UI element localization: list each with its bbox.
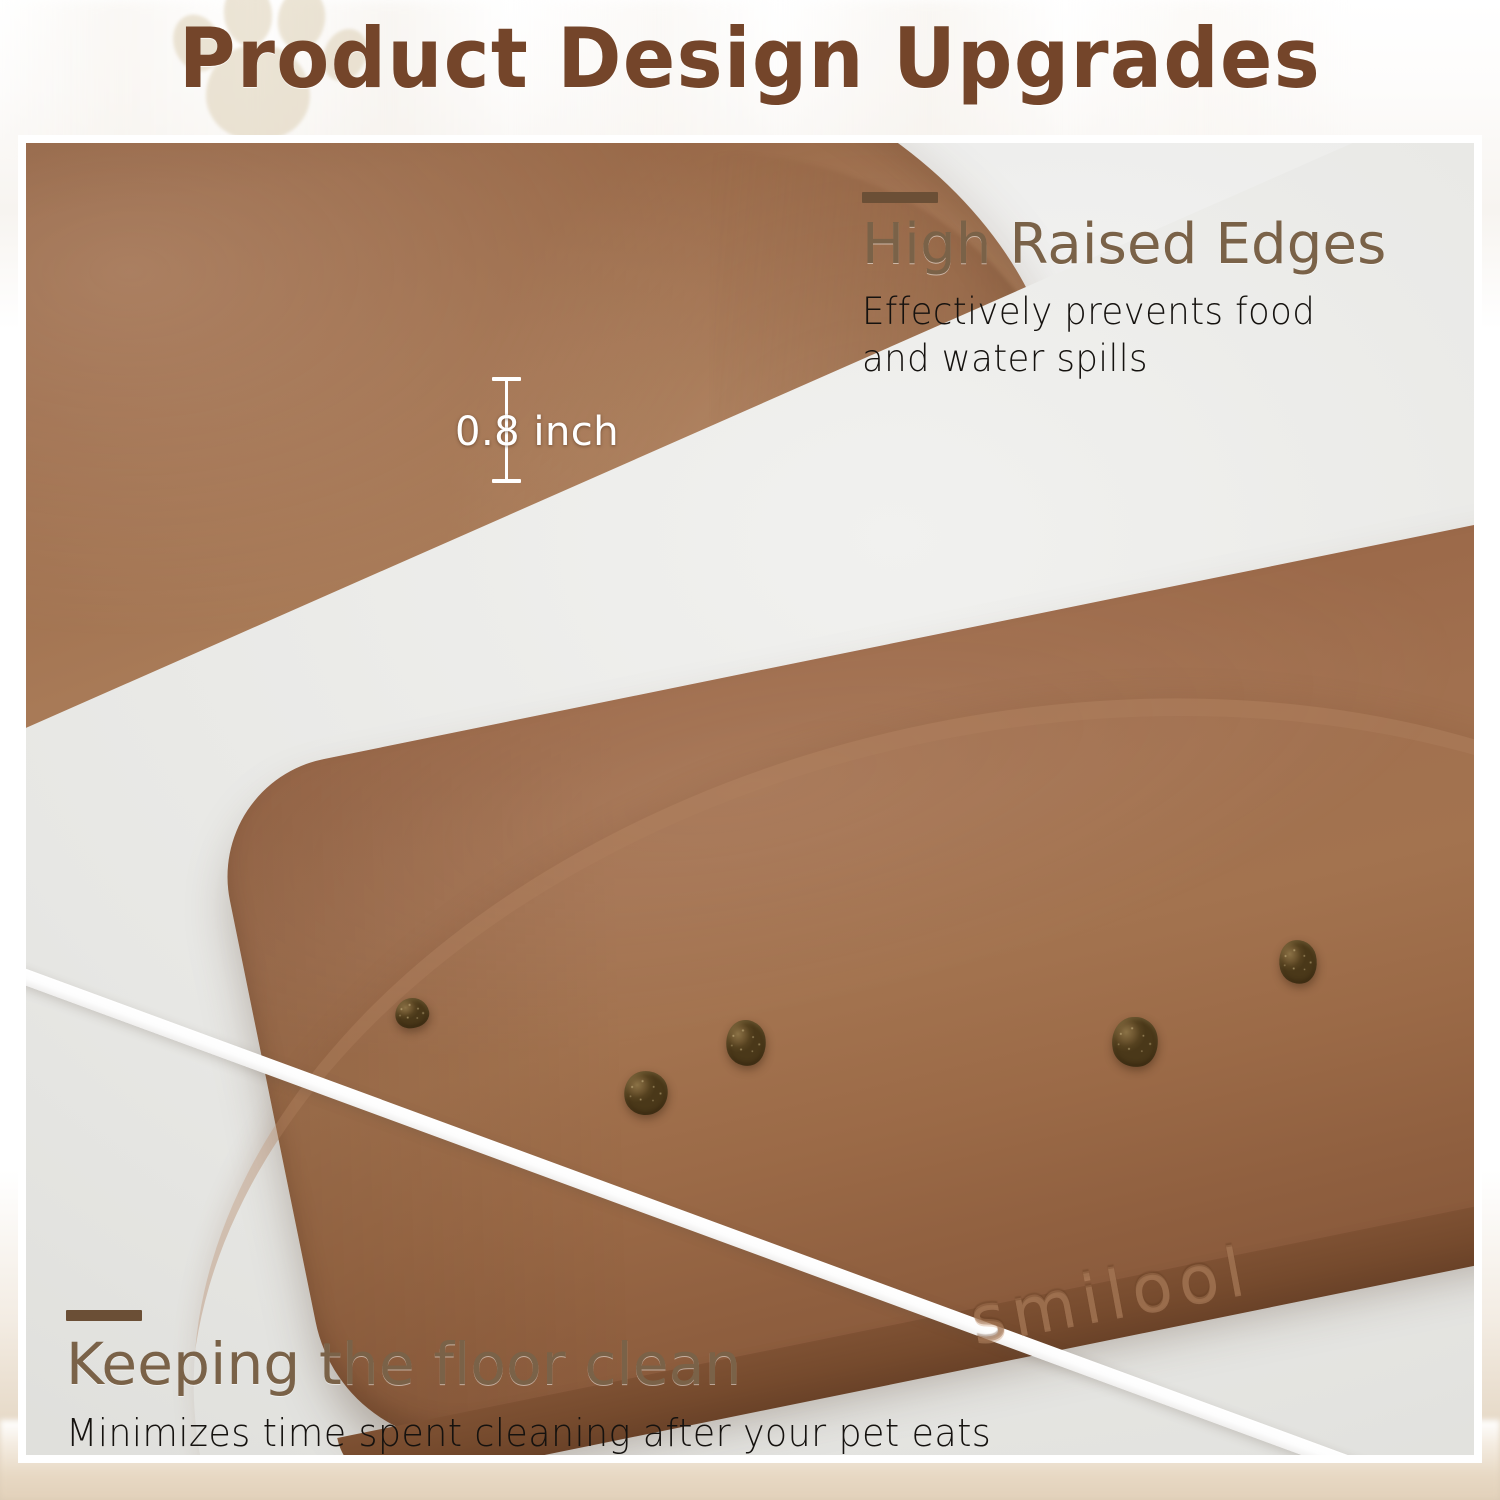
feature-body-line: Minimizes time spent cleaning after your… <box>66 1410 991 1458</box>
feature-high-raised-edges: High Raised Edges Effectively prevents f… <box>862 192 1387 383</box>
feature-body-line: and water spills <box>862 336 1366 383</box>
accent-bar <box>66 1310 142 1321</box>
feature-body-line: Effectively prevents food <box>862 289 1366 336</box>
feature-body: Minimizes time spent cleaning after your… <box>66 1410 991 1458</box>
dimension-cap-top <box>492 377 521 381</box>
feature-keeping-floor-clean: Keeping the floor clean Minimizes time s… <box>66 1310 1030 1458</box>
page-title: Product Design Upgrades <box>53 14 1448 104</box>
feature-heading: High Raised Edges <box>862 215 1387 275</box>
feature-heading: Keeping the floor clean <box>66 1333 1030 1396</box>
product-infographic: Product Design Upgrades 0.8 inch <box>0 0 1500 1500</box>
accent-bar <box>862 192 938 203</box>
dimension-cap-bottom <box>492 479 521 483</box>
feature-body: Effectively prevents food and water spil… <box>862 289 1366 382</box>
dimension-label: 0.8 inch <box>455 409 619 455</box>
